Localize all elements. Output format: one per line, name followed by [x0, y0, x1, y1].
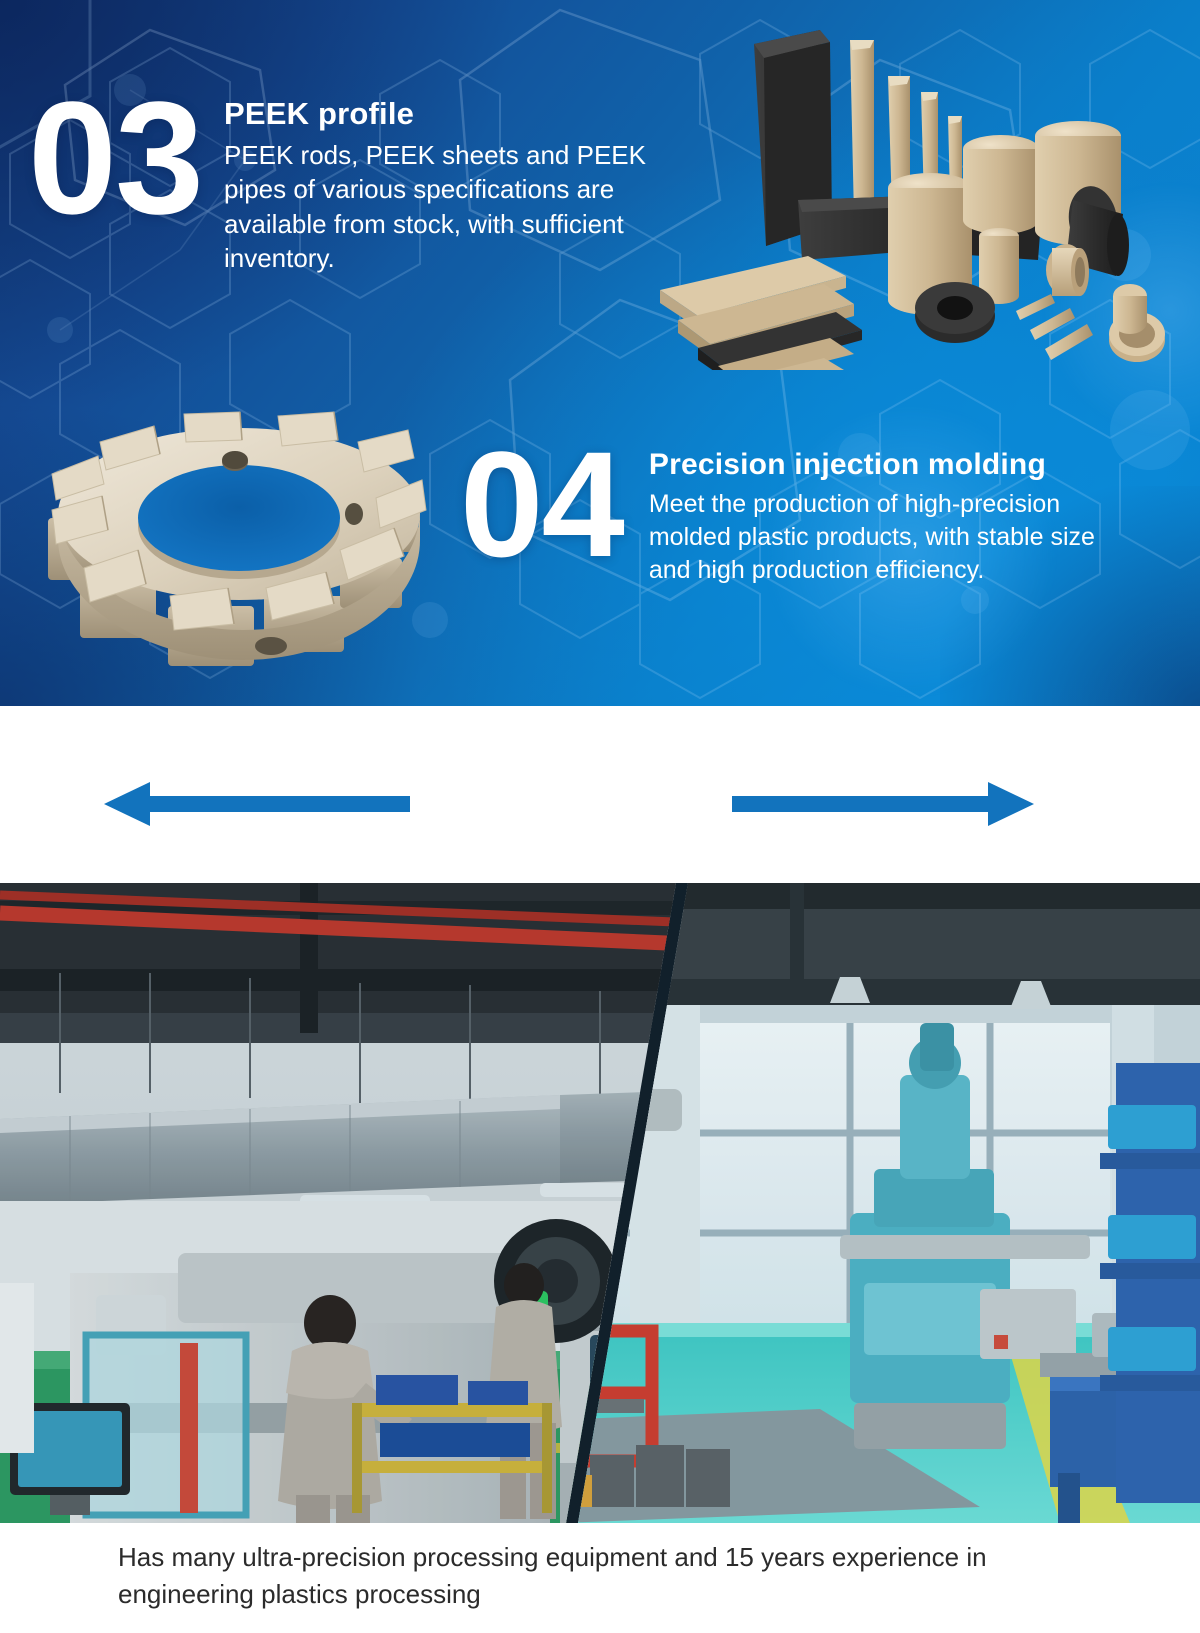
feature-block-04: 04 Precision injection molding Meet the … — [460, 438, 1129, 587]
hero-panel: 03 PEEK profile PEEK rods, PEEK sheets a… — [0, 0, 1200, 706]
peek-profile-products-photo — [618, 8, 1190, 370]
factory-photo-collage — [0, 883, 1200, 1523]
feature-title-04: Precision injection molding — [649, 448, 1129, 482]
double-arrow-divider-icon — [0, 706, 1200, 886]
feature-number-03: 03 — [28, 88, 202, 229]
our-strengths-banner: Our strengths — [0, 706, 1200, 886]
feature-title-03: PEEK profile — [224, 96, 654, 132]
feature-body-03: PEEK rods, PEEK sheets and PEEK pipes of… — [224, 138, 654, 275]
caption-text: Has many ultra-precision processing equi… — [118, 1539, 1078, 1613]
caption-block: Has many ultra-precision processing equi… — [0, 1523, 1200, 1633]
feature-number-04: 04 — [460, 438, 623, 570]
feature-block-03: 03 PEEK profile PEEK rods, PEEK sheets a… — [28, 88, 654, 275]
peek-gear-ring-photo — [28, 398, 458, 680]
feature-body-04: Meet the production of high-precision mo… — [649, 488, 1129, 587]
